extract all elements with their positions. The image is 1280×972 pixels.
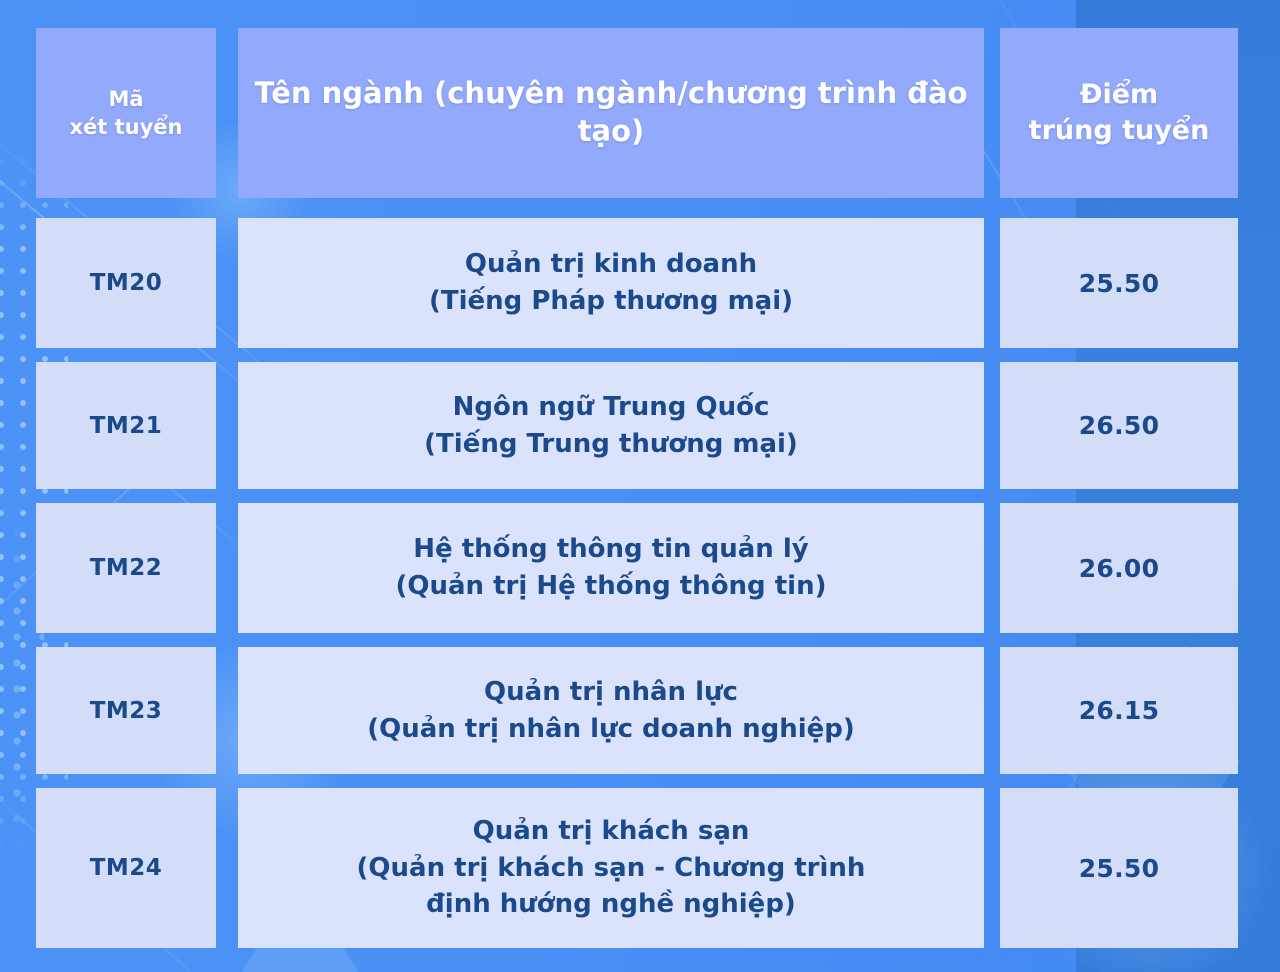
row-cell-code: TM23 [36,647,216,774]
row-code-text: TM20 [76,266,177,300]
row-score-text: 26.15 [1065,692,1174,729]
row-program-line1: Ngôn ngữ Trung Quốc [424,389,798,426]
header-cell-code: Mã xét tuyển [36,28,216,198]
table-row: TM21 Ngôn ngữ Trung Quốc (Tiếng Trung th… [0,362,1280,489]
row-program-line3: định hướng nghề nghiệp) [357,886,866,923]
header-score-line2: trúng tuyển [1029,113,1210,149]
row-cell-score: 26.15 [1000,647,1238,774]
row-cell-code: TM20 [36,218,216,348]
row-program-line2: (Quản trị Hệ thống thông tin) [396,568,827,605]
row-program-line2: (Quản trị khách sạn - Chương trình [357,850,866,887]
row-program-line1: Quản trị khách sạn [357,813,866,850]
header-code-line2: xét tuyển [69,113,182,141]
row-code-text: TM21 [76,409,177,443]
page-background: Mã xét tuyển Tên ngành (chuyên ngành/chư… [0,0,1280,972]
row-cell-program-name: Quản trị kinh doanh (Tiếng Pháp thương m… [238,218,984,348]
table-row: TM23 Quản trị nhân lực (Quản trị nhân lự… [0,647,1280,774]
table-row: TM22 Hệ thống thông tin quản lý (Quản tr… [0,503,1280,633]
row-cell-score: 25.50 [1000,788,1238,948]
header-code-line1: Mã [69,85,182,113]
row-code-text: TM22 [76,551,177,585]
row-program-line2: (Tiếng Trung thương mại) [424,426,798,463]
row-code-text: TM23 [76,694,177,728]
row-score-text: 26.50 [1065,407,1174,444]
row-cell-code: TM22 [36,503,216,633]
row-cell-score: 25.50 [1000,218,1238,348]
row-cell-score: 26.00 [1000,503,1238,633]
row-score-text: 25.50 [1065,850,1174,887]
row-cell-program-name: Quản trị nhân lực (Quản trị nhân lực doa… [238,647,984,774]
row-program-line2: (Tiếng Pháp thương mại) [429,283,793,320]
row-program-line2: (Quản trị nhân lực doanh nghiệp) [367,711,855,748]
row-cell-program-name: Quản trị khách sạn (Quản trị khách sạn -… [238,788,984,948]
table-header-row: Mã xét tuyển Tên ngành (chuyên ngành/chư… [0,28,1280,198]
admission-scores-table: Mã xét tuyển Tên ngành (chuyên ngành/chư… [0,0,1280,972]
row-cell-score: 26.50 [1000,362,1238,489]
row-program-line1: Quản trị nhân lực [367,674,855,711]
row-score-text: 25.50 [1065,265,1174,302]
header-cell-score: Điểm trúng tuyển [1000,28,1238,198]
row-cell-code: TM21 [36,362,216,489]
row-program-line1: Hệ thống thông tin quản lý [396,531,827,568]
header-program-name-text: Tên ngành (chuyên ngành/chương trình đào… [238,71,984,154]
row-cell-program-name: Hệ thống thông tin quản lý (Quản trị Hệ … [238,503,984,633]
row-score-text: 26.00 [1065,550,1174,587]
row-program-line1: Quản trị kinh doanh [429,246,793,283]
header-cell-program-name: Tên ngành (chuyên ngành/chương trình đào… [238,28,984,198]
row-code-text: TM24 [76,851,177,885]
row-cell-program-name: Ngôn ngữ Trung Quốc (Tiếng Trung thương … [238,362,984,489]
row-cell-code: TM24 [36,788,216,948]
table-row: TM20 Quản trị kinh doanh (Tiếng Pháp thư… [0,218,1280,348]
table-row: TM24 Quản trị khách sạn (Quản trị khách … [0,788,1280,948]
header-score-line1: Điểm [1029,77,1210,113]
